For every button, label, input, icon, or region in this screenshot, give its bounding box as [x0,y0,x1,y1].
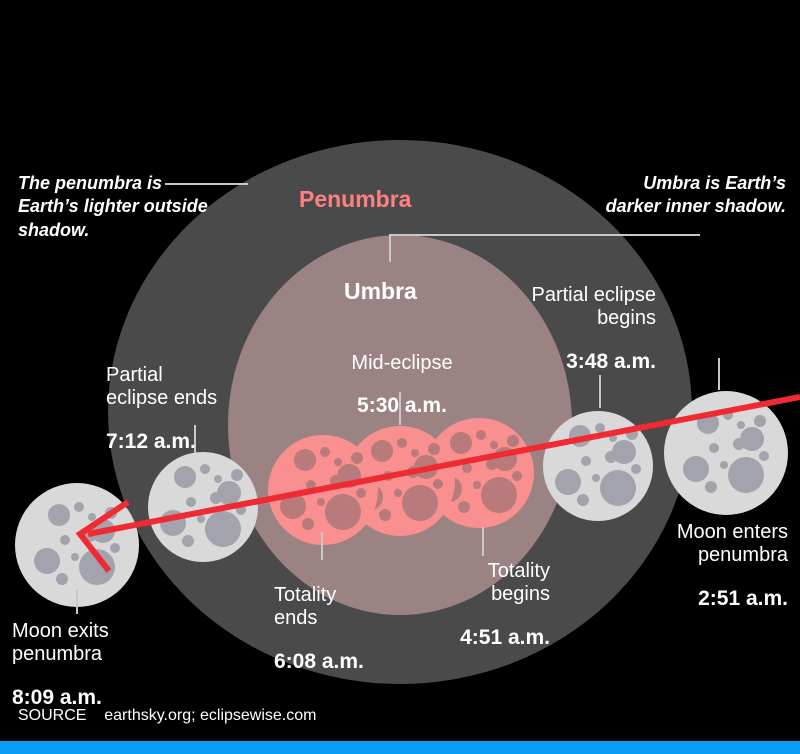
lunar-eclipse-infographic: Key moments of the lunar eclipse The Jan… [0,0,800,754]
callout-title: Moon exits penumbra [12,620,192,667]
callout-time: 3:48 a.m. [466,350,656,375]
source-value: earthsky.org; eclipsewise.com [104,707,316,724]
umbra-explanation: Umbra is Earth’s darker inner shadow. [600,172,786,219]
callout-partial-eclipse-begins: Partial eclipse begins 3:48 a.m. [466,265,656,394]
source-credit: SOURCE earthsky.org; eclipsewise.com [18,707,316,725]
callout-totality-ends: Totality ends 6:08 a.m. [274,565,424,694]
callout-partial-eclipse-ends: Partial eclipse ends 7:12 a.m. [106,345,286,474]
callout-title: Totality ends [274,584,424,631]
bottom-accent-bar [0,741,800,754]
callout-time: 2:51 a.m. [620,587,788,612]
callout-time: 5:30 a.m. [322,394,482,419]
callout-title: Mid-eclipse [322,352,482,376]
moon-moon-exits-penumbra [15,483,139,607]
callout-title: Moon enters penumbra [620,521,788,568]
callout-time: 7:12 a.m. [106,430,286,455]
callout-time: 6:08 a.m. [274,650,424,675]
eclipse-diagram: Penumbra Umbra The penumbra is Earth’s l… [0,0,800,754]
source-label: SOURCE [18,707,86,724]
callout-title: Partial eclipse ends [106,364,286,411]
callout-title: Partial eclipse begins [466,284,656,331]
penumbra-region-label: Penumbra [299,186,411,213]
penumbra-explanation: The penumbra is Earth’s lighter outside … [18,172,208,242]
callout-moon-enters-penumbra: Moon enters penumbra 2:51 a.m. [620,502,788,631]
umbra-region-label: Umbra [344,278,417,305]
callout-mid-eclipse: Mid-eclipse 5:30 a.m. [322,333,482,438]
